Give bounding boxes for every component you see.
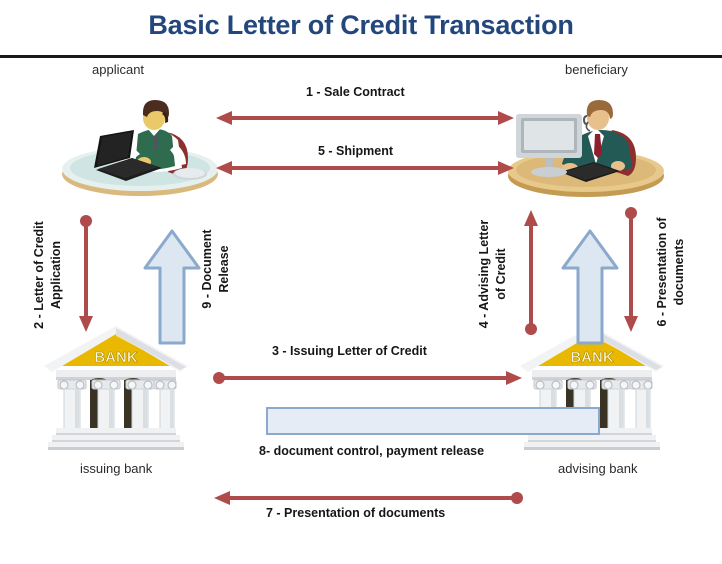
connector-shipment [214,158,516,178]
step-label-9-line1: 9 - Document [200,208,215,330]
step-label-1: 1 - Sale Contract [306,85,405,99]
bank-sign-text: BANK [570,349,613,366]
beneficiary-illustration [508,96,668,200]
step-label-2-line2: Application [49,210,64,340]
connector-presentation-docs-right [620,206,642,334]
document-control-box [266,407,600,435]
step-label-9: 9 - Document [200,208,215,330]
step-label-6-cont: documents [672,204,687,340]
step-label-2-cont: Application [49,210,64,340]
step-label-3: 3 - Issuing Letter of Credit [272,344,427,358]
step-label-5: 5 - Shipment [318,144,393,158]
step-label-4-line1: 4 - Advising Letter [477,208,492,340]
step-label-8: 8- document control, payment release [259,444,484,458]
step-label-2-line1: 2 - Letter of Credit [32,210,47,340]
connector-presentation-docs-bottom [212,488,524,508]
connector-sale-contract [214,108,516,128]
label-beneficiary: beneficiary [565,62,628,77]
page-title: Basic Letter of Credit Transaction [0,10,722,41]
step-label-4-line2: of Credit [494,208,509,340]
connector-issuing-lc [212,368,524,388]
title-divider [0,55,722,58]
block-arrow-up-icon-right [560,228,620,346]
connector-advising-lc [520,208,542,336]
step-label-4: 4 - Advising Letter [477,208,492,340]
label-issuing-bank: issuing bank [80,461,152,476]
connector-lc-application [75,214,97,334]
diagram-canvas: Basic Letter of Credit Transaction appli… [0,0,722,564]
step-label-6: 6 - Presentation of [655,204,670,340]
step-label-7: 7 - Presentation of documents [266,506,445,520]
label-applicant: applicant [92,62,144,77]
block-arrow-up-icon-left [142,228,202,346]
step-label-9-line2: Release [217,208,232,330]
step-label-6-line1: 6 - Presentation of [655,204,670,340]
step-label-2: 2 - Letter of Credit [32,210,47,340]
applicant-illustration [58,96,218,200]
step-label-4-cont: of Credit [494,208,509,340]
step-label-9-cont: Release [217,208,232,330]
label-advising-bank: advising bank [558,461,638,476]
bank-sign-text: BANK [94,349,137,366]
step-label-6-line2: documents [672,204,687,340]
